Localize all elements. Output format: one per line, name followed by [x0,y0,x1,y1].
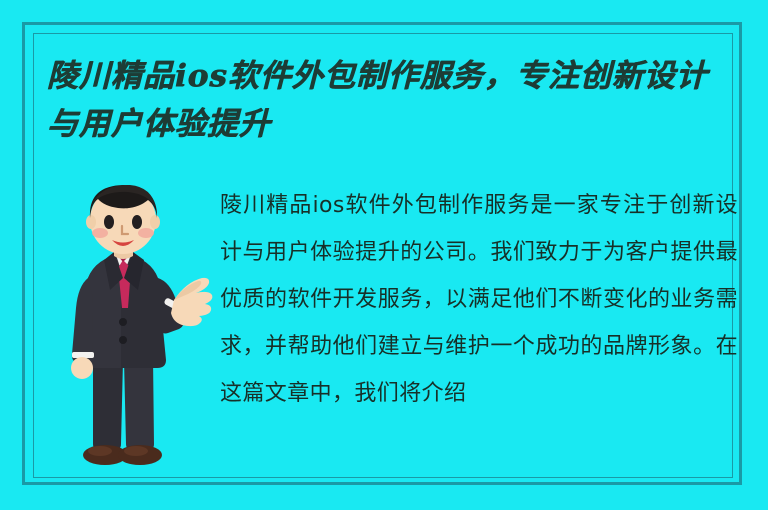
jacket-button-lower [119,336,127,344]
right-trouser-leg [124,357,154,450]
page-title: 陵川精品ios软件外包制作服务，专注创新设计与用户体验提升 [47,52,737,148]
right-shoe-highlight [124,446,148,456]
left-trouser-leg [93,357,123,450]
left-hand [71,357,93,379]
businessman-illustration [52,182,214,474]
left-eye [104,215,114,229]
article-body-text: 陵川精品ios软件外包制作服务是一家专注于创新设计与用户体验提升的公司。我们致力… [220,182,738,417]
left-arm-sleeve [72,278,93,363]
left-shoe-highlight [88,446,112,456]
left-ear [86,215,96,229]
left-cheek [92,228,108,238]
poster-canvas: 陵川精品ios软件外包制作服务，专注创新设计与用户体验提升 陵川精品ios软件外… [0,0,768,510]
right-eye [132,215,142,229]
jacket-button-upper [119,318,127,326]
right-cheek [138,228,154,238]
right-ear [150,215,160,229]
